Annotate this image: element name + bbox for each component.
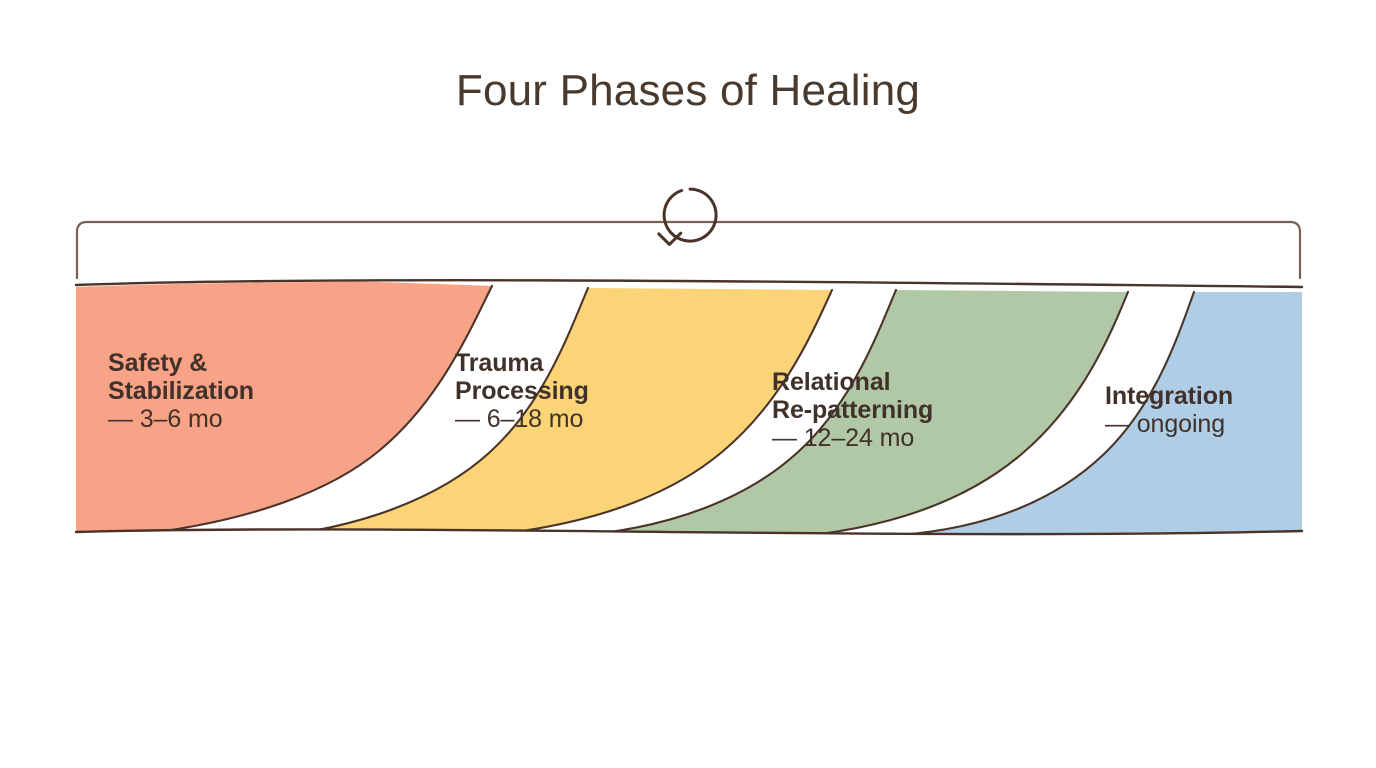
phase-label-4: Integration — ongoing <box>1105 382 1233 438</box>
phase-duration-2: — 6–18 mo <box>455 405 589 433</box>
phase-duration-4: — ongoing <box>1105 410 1233 438</box>
phase-name-3: Relational Re-patterning <box>772 368 933 424</box>
diagram-canvas: Four Phases of Healing Safety & Stabiliz… <box>0 0 1376 768</box>
phase-name-1: Safety & Stabilization <box>108 349 254 405</box>
circular-arrow-icon <box>655 180 726 251</box>
phase-label-2: Trauma Processing — 6–18 mo <box>455 349 589 433</box>
cycle-bracket <box>77 222 1300 278</box>
phase-name-2: Trauma Processing <box>455 349 589 405</box>
phase-label-3: Relational Re-patterning — 12–24 mo <box>772 368 933 452</box>
phase-duration-1: — 3–6 mo <box>108 405 254 433</box>
phase-label-1: Safety & Stabilization — 3–6 mo <box>108 349 254 433</box>
page-title: Four Phases of Healing <box>0 66 1376 116</box>
phase-duration-3: — 12–24 mo <box>772 424 933 452</box>
phase-name-4: Integration <box>1105 382 1233 410</box>
